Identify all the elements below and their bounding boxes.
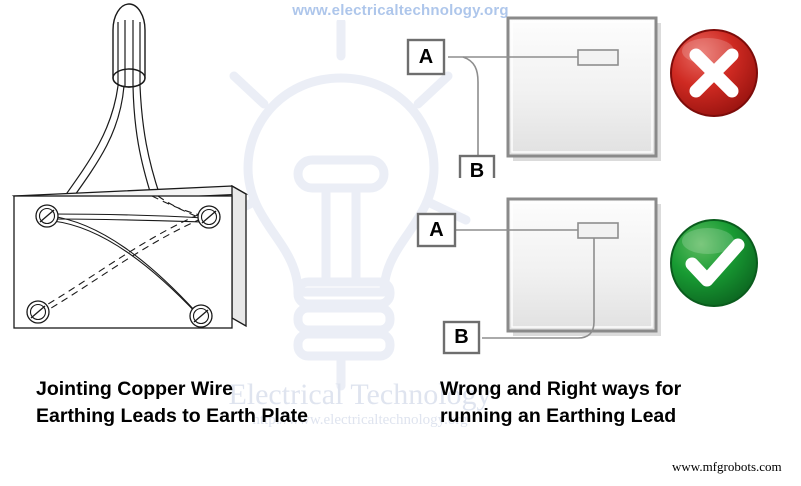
label-a-text: A <box>408 40 444 74</box>
earth-terminal <box>578 50 618 65</box>
left-caption-line2: Earthing Leads to Earth Plate <box>36 403 308 430</box>
terminal-bottom-left <box>27 301 49 323</box>
terminal-top-right <box>198 206 220 228</box>
wrong-earthing-lead-diagram: A B <box>400 8 680 178</box>
lead-fan <box>62 86 160 202</box>
screenshot-canvas: Electrical Technology http://www.electri… <box>0 0 801 486</box>
red-cross-circle-icon <box>668 27 760 119</box>
right-caption-line2: running an Earthing Lead <box>440 403 681 430</box>
label-a-text: A <box>418 214 455 246</box>
site-credit: www.mfgrobots.com <box>672 459 782 475</box>
earth-terminal <box>578 223 618 238</box>
right-earthing-lead-diagram: A B <box>400 190 680 360</box>
equipment-panel <box>508 199 656 331</box>
green-check-circle-icon <box>668 217 760 309</box>
label-b-text: B <box>460 156 494 187</box>
equipment-panel <box>508 18 656 156</box>
terminal-bottom-right <box>190 305 212 327</box>
right-caption-line1: Wrong and Right ways for <box>440 376 681 403</box>
left-caption-line1: Jointing Copper Wire <box>36 376 308 403</box>
terminal-top-left <box>36 205 58 227</box>
right-caption: Wrong and Right ways for running an Eart… <box>440 376 681 430</box>
earth-plate-jointing-diagram <box>0 0 260 350</box>
left-caption: Jointing Copper Wire Earthing Leads to E… <box>36 376 308 430</box>
label-b-text: B <box>444 322 479 353</box>
